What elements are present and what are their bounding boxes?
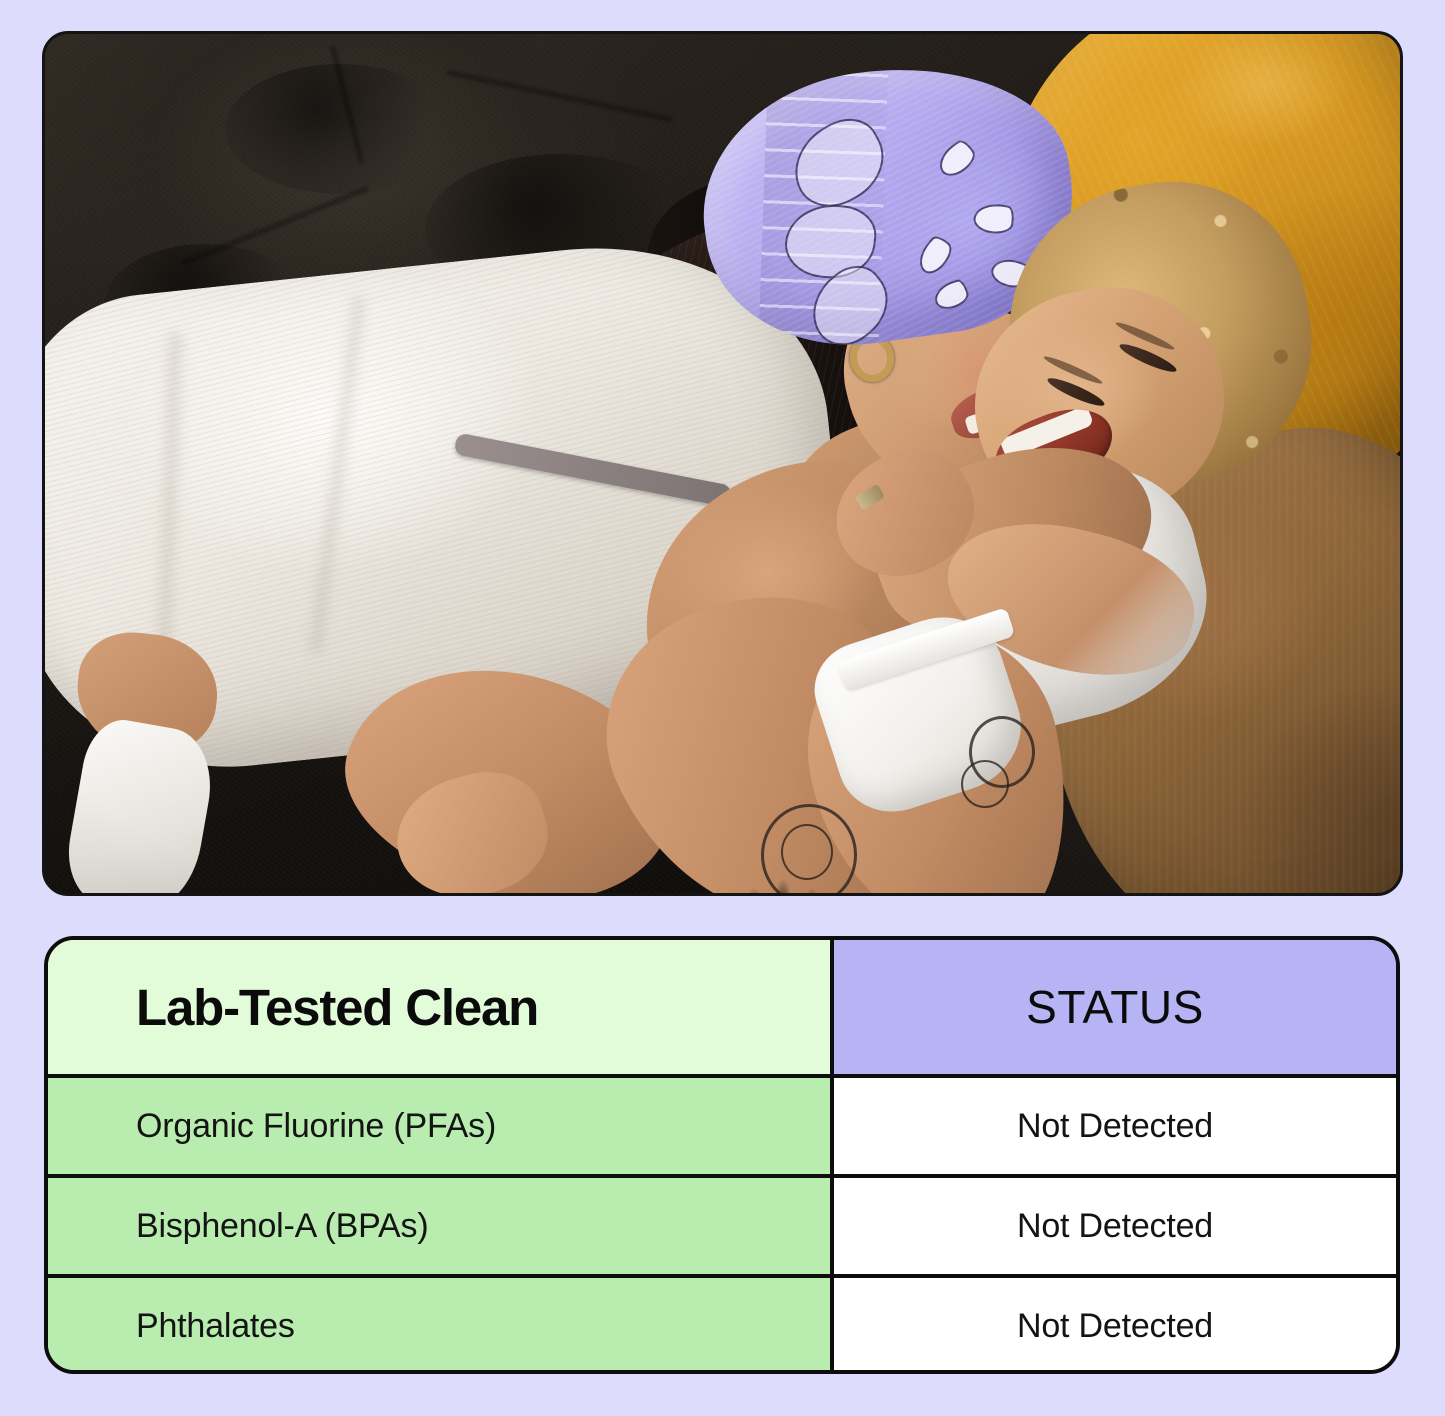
table-row: Organic Fluorine (PFAs) Not Detected — [48, 1078, 1396, 1178]
substance-label: Organic Fluorine (PFAs) — [136, 1109, 496, 1143]
paisley-swirl — [782, 200, 879, 283]
table-title: Lab-Tested Clean — [136, 982, 538, 1033]
product-infographic: Lab-Tested Clean STATUS Organic Fluorine… — [0, 0, 1445, 1416]
status-column-header: STATUS — [1026, 984, 1204, 1030]
lotus-tattoo — [735, 862, 831, 893]
table-cell-substance: Phthalates — [48, 1278, 834, 1374]
table-cell-substance: Bisphenol-A (BPAs) — [48, 1178, 834, 1274]
table-header-cell-title: Lab-Tested Clean — [48, 940, 834, 1074]
arm-tattoo — [961, 760, 1009, 808]
fabric-fold — [157, 332, 183, 662]
lifestyle-photo — [42, 31, 1403, 896]
paisley-motif — [912, 232, 957, 278]
table-header-cell-status: STATUS — [834, 940, 1396, 1074]
status-badge: Not Detected — [1017, 1209, 1213, 1243]
fabric-fold — [309, 296, 365, 655]
substance-label: Phthalates — [136, 1309, 295, 1343]
lab-test-table: Lab-Tested Clean STATUS Organic Fluorine… — [44, 936, 1400, 1374]
table-cell-status: Not Detected — [834, 1178, 1396, 1274]
table-row: Phthalates Not Detected — [48, 1278, 1396, 1374]
table-cell-status: Not Detected — [834, 1278, 1396, 1374]
bandana-border-band — [757, 55, 888, 364]
status-badge: Not Detected — [1017, 1309, 1213, 1343]
paisley-motif — [931, 278, 971, 312]
paisley-motif — [933, 137, 980, 181]
paisley-swirl — [779, 107, 899, 220]
photo-scene — [45, 34, 1400, 893]
table-row: Bisphenol-A (BPAs) Not Detected — [48, 1178, 1396, 1278]
table-cell-status: Not Detected — [834, 1078, 1396, 1174]
table-header-row: Lab-Tested Clean STATUS — [48, 940, 1396, 1078]
substance-label: Bisphenol-A (BPAs) — [136, 1209, 428, 1243]
status-badge: Not Detected — [1017, 1109, 1213, 1143]
table-cell-substance: Organic Fluorine (PFAs) — [48, 1078, 834, 1174]
